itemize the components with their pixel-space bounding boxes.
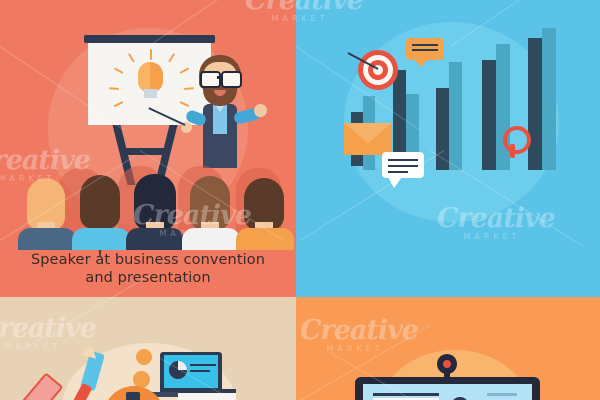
tile-business-training[interactable]: Business training at office (296, 0, 600, 297)
caption-line-1: Speaker at business convention (0, 251, 296, 269)
smartphone-icon (126, 392, 140, 400)
eyeglasses-bridge (217, 76, 221, 79)
bubble-tail (414, 59, 428, 67)
ruler-icon (3, 372, 63, 400)
caption-line-2: and presentation (0, 269, 296, 287)
lightbulb-base (144, 89, 157, 98)
speaker-right-hand (254, 104, 267, 117)
chat-text-line (388, 165, 418, 167)
eyeglasses-icon (221, 71, 242, 88)
chart-bar (449, 62, 462, 170)
bottom-right-art (296, 297, 600, 400)
audience-body (126, 228, 184, 250)
bubble-text-line (412, 49, 438, 51)
laptop-text-line (190, 364, 216, 366)
lightbulb-highlight (138, 62, 150, 92)
chart-bar (528, 38, 542, 170)
document-header (178, 389, 236, 393)
tile-caption-training: Business training at office (592, 256, 600, 276)
audience-body (18, 228, 76, 250)
bottom-left-art (0, 297, 296, 400)
illustration-canvas: Speaker at business convention and prese… (0, 0, 600, 400)
bubble-text-line (412, 44, 438, 46)
magnifier-handle (510, 144, 515, 158)
tile-caption-speaker: Speaker at business convention and prese… (0, 251, 296, 287)
audience-body (236, 228, 294, 250)
laptop-text-line (190, 370, 210, 372)
webcam-lens (443, 360, 451, 368)
audience-body (182, 228, 240, 250)
participant-text-line (487, 393, 517, 396)
caption-line-1: Business training at office (592, 256, 600, 276)
magnifier-icon (503, 126, 531, 154)
idea-ray-icon (150, 49, 152, 60)
audience-body (72, 228, 130, 250)
eyeglasses-icon (200, 71, 221, 88)
chart-bar (482, 60, 496, 170)
chat-text-line (388, 159, 418, 161)
projector-screen-bar (84, 35, 215, 43)
chart-bar (542, 28, 556, 170)
